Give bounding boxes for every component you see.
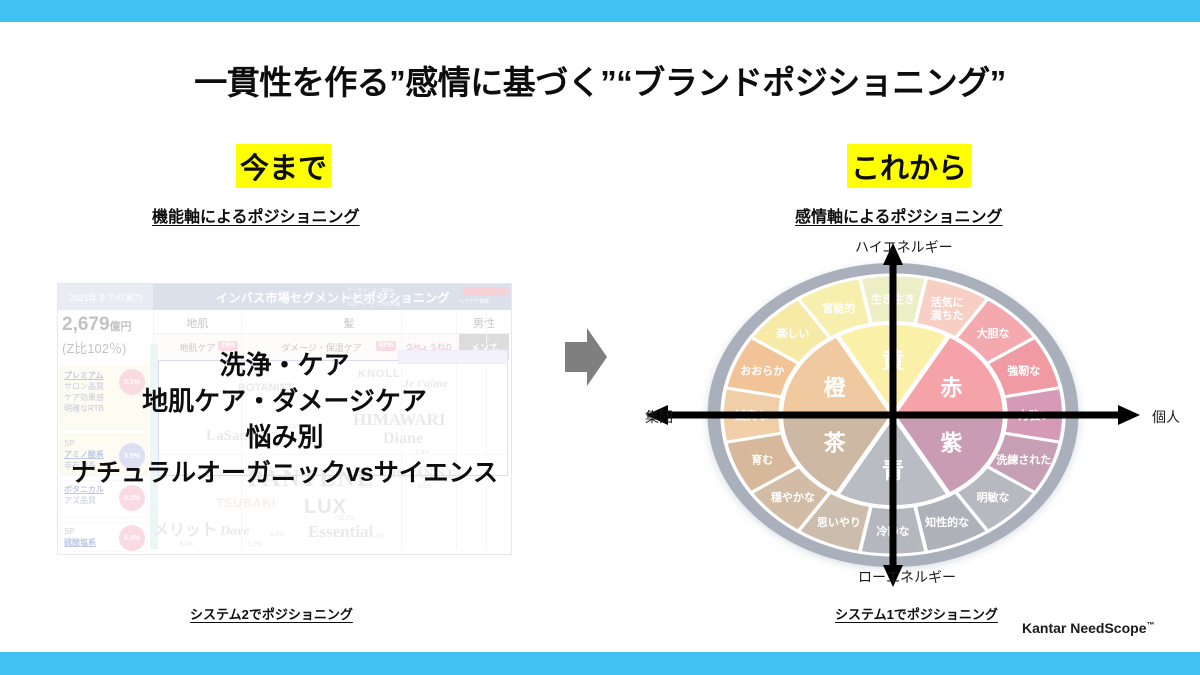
wheel-inner-label-4: 茶	[824, 431, 847, 456]
wheel-inner-label-2: 紫	[940, 431, 962, 456]
axis-label-top: ハイエネルギー	[855, 237, 953, 257]
needscope-wheel-container: ハイエネルギー ローエネルギー 集団 個人 生き生き活気に満ちた大胆な強靭な力強…	[640, 237, 1185, 592]
wheel-outer-label-3: 強靭な	[1007, 364, 1040, 378]
overlay-line-1: 地肌ケア・ダメージケア	[142, 383, 427, 419]
needscope-wheel: 生き生き活気に満ちた大胆な強靭な力強い洗練された明敏な知性的な冷静な思いやり穏や…	[640, 237, 1185, 592]
left-badge: 今まで	[236, 144, 331, 188]
wheel-outer-label-13: おおらか	[740, 365, 784, 378]
wheel-outer-label-6: 明敏な	[977, 490, 1010, 504]
transition-arrow-icon	[565, 328, 607, 386]
axis-label-right: 個人	[1152, 407, 1180, 427]
wheel-outer-label-5: 洗練された	[996, 452, 1051, 466]
wheel-inner-label-5: 橙	[824, 375, 847, 400]
overlay-line-3: ナチュラルオーガニックvsサイエンス	[71, 455, 498, 491]
slide-root: 一貫性を作る”感情に基づく”“ブランドポジショニング” 今まで 機能軸によるポジ…	[0, 0, 1200, 675]
wheel-outer-label-7: 知性的な	[924, 515, 969, 529]
top-accent-bar	[0, 0, 1200, 22]
overlay-line-0: 洗浄・ケア	[219, 347, 349, 383]
wheel-outer-label-15: 官能的	[822, 301, 855, 315]
kantar-needscope-logo: Kantar NeedScope™	[1022, 620, 1154, 636]
market-map-screenshot: 2021年までの実力 インバス市場セグメントとポジショニング データソース：20…	[57, 283, 512, 555]
bottom-accent-bar	[0, 652, 1200, 675]
left-caption: システム2でポジショニング	[190, 604, 353, 623]
wheel-outer-label-9: 思いやり	[817, 516, 861, 529]
overlay-line-2: 悩み別	[245, 419, 323, 455]
page-title: 一貫性を作る”感情に基づく”“ブランドポジショニング”	[0, 56, 1200, 104]
wheel-outer-label-2: 大胆な	[977, 326, 1010, 340]
right-badge: これから	[847, 144, 971, 188]
quadrant-axes	[646, 243, 1140, 587]
left-subtitle: 機能軸によるポジショニング	[152, 203, 360, 227]
axis-label-left: 集団	[645, 407, 673, 427]
market-map-overlay-text: 洗浄・ケア 地肌ケア・ダメージケア 悩み別 ナチュラルオーガニックvsサイエンス	[58, 284, 511, 554]
wheel-outer-label-10: 穏やかな	[771, 490, 815, 504]
wheel-outer-label-14: 楽しい	[775, 326, 809, 340]
right-subtitle: 感情軸によるポジショニング	[795, 203, 1003, 227]
axis-label-bottom: ローエネルギー	[858, 567, 956, 587]
wheel-inner-label-1: 赤	[940, 375, 962, 400]
wheel-outer-label-11: 育む	[751, 452, 773, 466]
right-caption: システム1でポジショニング	[835, 604, 998, 623]
wheel-outer-label-1: 活気に満ちた	[931, 295, 964, 322]
